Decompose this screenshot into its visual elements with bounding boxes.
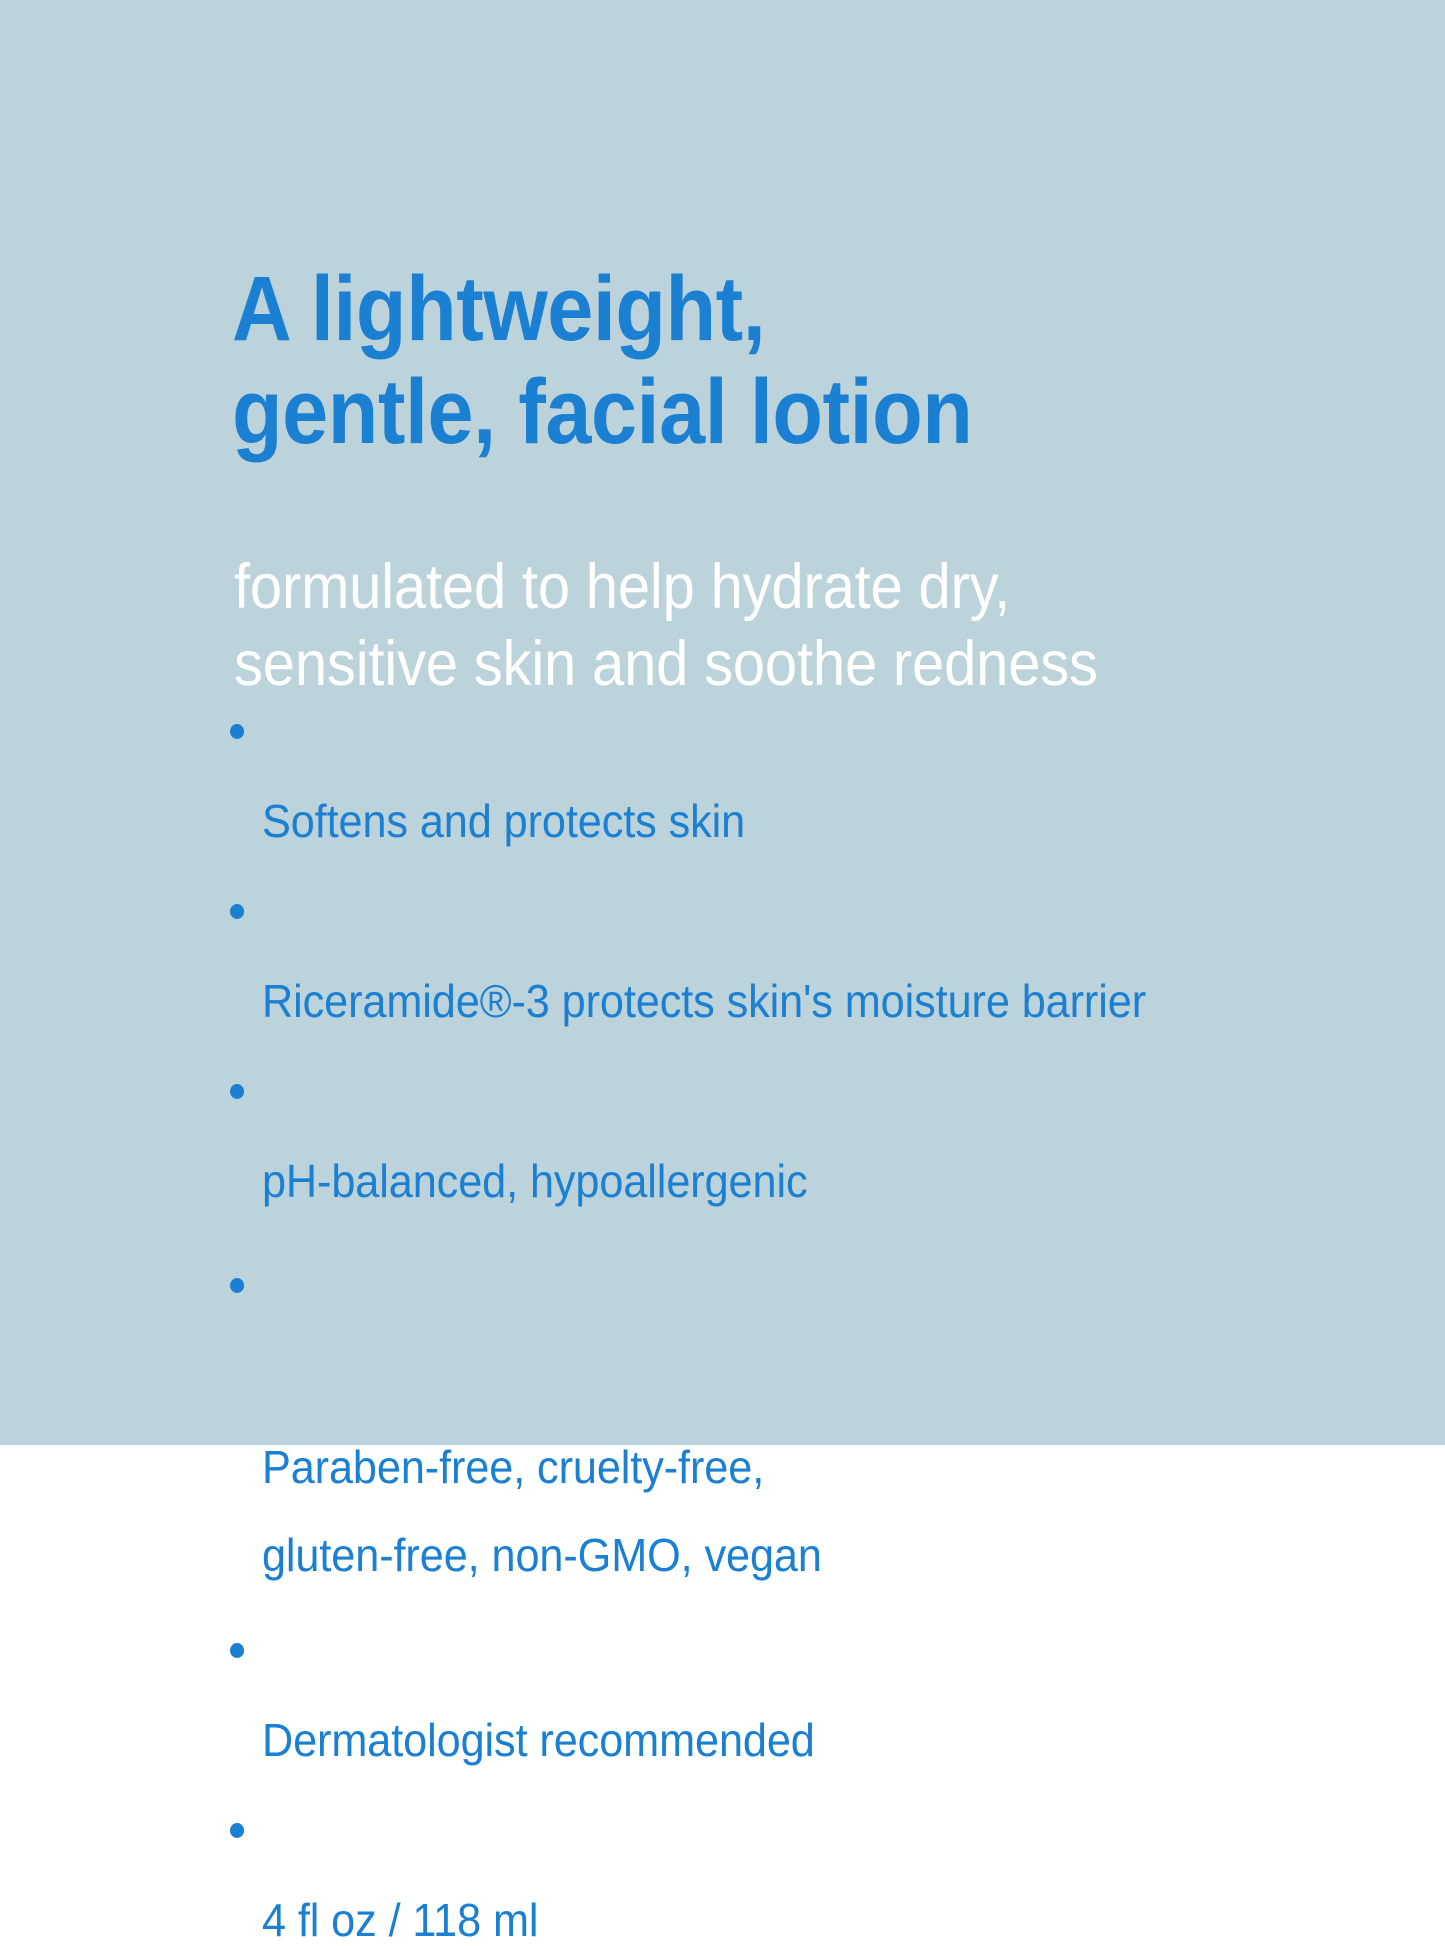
bullet-icon <box>230 1643 244 1658</box>
benefits-list: Softens and protects skin Riceramide®-3 … <box>230 706 1410 1943</box>
bullet-icon <box>230 724 244 739</box>
list-item-label: Paraben-free, cruelty-free, gluten-free,… <box>262 1441 822 1581</box>
bullet-icon <box>230 1823 244 1838</box>
subtitle: formulated to help hydrate dry, sensitiv… <box>234 549 1338 703</box>
page-title: A lightweight, gentle, facial lotion <box>232 258 1240 464</box>
list-item-label: Softens and protects skin <box>262 795 745 847</box>
bullet-icon <box>230 1278 244 1293</box>
list-item-label: Riceramide®-3 protects skin's moisture b… <box>262 975 1146 1027</box>
list-item: Dermatologist recommended <box>230 1625 1339 1763</box>
list-item: Paraben-free, cruelty-free, gluten-free,… <box>230 1246 1339 1599</box>
list-item: Softens and protects skin <box>230 706 1339 844</box>
product-feature-panel: A lightweight, gentle, facial lotion for… <box>0 0 1445 1445</box>
bullet-icon <box>230 904 244 919</box>
list-item-label: 4 fl oz / 118 ml <box>262 1894 538 1946</box>
bullet-icon <box>230 1084 244 1099</box>
list-item: Riceramide®-3 protects skin's moisture b… <box>230 886 1339 1024</box>
list-item-label: Dermatologist recommended <box>262 1714 815 1766</box>
list-item: pH-balanced, hypoallergenic <box>230 1066 1339 1204</box>
list-item: 4 fl oz / 118 ml <box>230 1805 1339 1943</box>
list-item-label: pH-balanced, hypoallergenic <box>262 1155 808 1207</box>
